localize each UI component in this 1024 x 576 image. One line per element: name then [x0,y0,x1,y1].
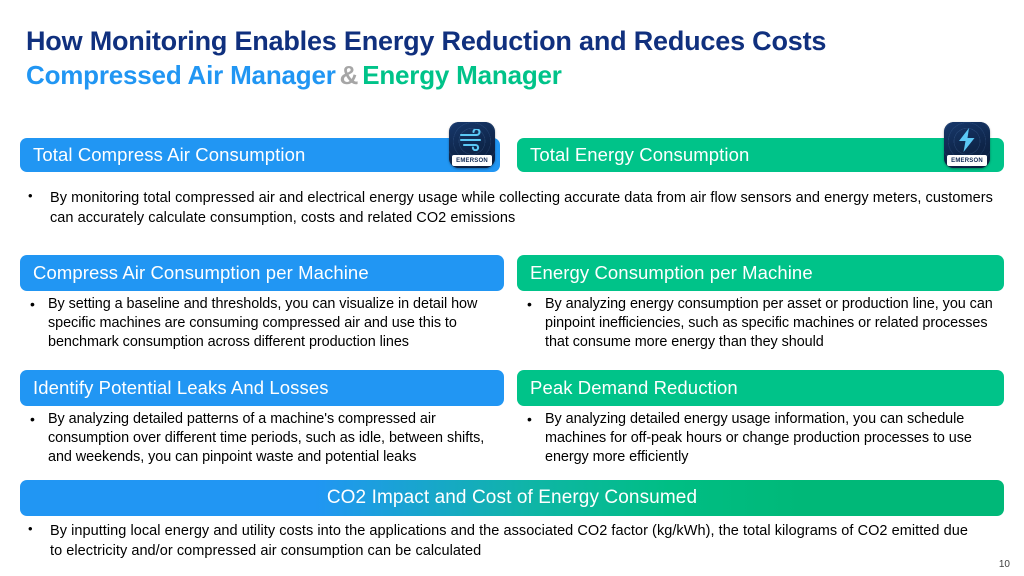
emerson-wordmark: EMERSON [452,155,492,166]
bullet-text: By analyzing detailed energy usage infor… [545,410,997,467]
header-identify-potential-leaks-and-losses[interactable]: Identify Potential Leaks And Losses [20,370,504,406]
bullets-identify-leaks: • By analyzing detailed patterns of a ma… [30,410,500,467]
header-energy-consumption-per-machine[interactable]: Energy Consumption per Machine [517,255,1004,291]
brand-label: EMERSON [456,158,488,164]
lightning-bolt-glyph [944,125,990,155]
bullets-energy-per-machine: • By analyzing energy consumption per as… [527,295,997,352]
subtitle-energy-manager: Energy Manager [362,60,562,90]
bullet-text: By monitoring total compressed air and e… [50,188,993,228]
subtitle-compressed-air-manager: Compressed Air Manager [26,60,336,90]
list-item: • By setting a baseline and thresholds, … [30,295,500,352]
header-label: Total Compress Air Consumption [20,144,305,166]
header-label: Energy Consumption per Machine [517,262,813,284]
header-label: Identify Potential Leaks And Losses [20,377,329,399]
list-item: • By monitoring total compressed air and… [28,188,993,228]
bullets-compress-air-per-machine: • By setting a baseline and thresholds, … [30,295,500,352]
page-subtitle: Compressed Air Manager&Energy Manager [26,60,986,90]
air-flow-glyph [449,125,495,155]
header-total-compress-air-consumption[interactable]: Total Compress Air Consumption [20,138,500,172]
list-item: • By analyzing energy consumption per as… [527,295,997,352]
header-peak-demand-reduction[interactable]: Peak Demand Reduction [517,370,1004,406]
header-compress-air-consumption-per-machine[interactable]: Compress Air Consumption per Machine [20,255,504,291]
header-co2-impact-and-cost[interactable]: CO2 Impact and Cost of Energy Consumed [20,480,1004,516]
brand-label: EMERSON [951,158,983,164]
bullet-glyph: • [30,410,48,429]
header-label: Total Energy Consumption [517,144,749,166]
bullet-text: By inputting local energy and utility co… [50,521,978,561]
bullet-glyph: • [28,188,50,203]
bullets-co2-impact: • By inputting local energy and utility … [28,521,978,561]
emerson-wordmark: EMERSON [947,155,987,166]
page-title: How Monitoring Enables Energy Reduction … [26,26,986,57]
slide-root: { "slide": { "title_line1": "How Monitor… [0,0,1024,576]
bullet-glyph: • [527,295,545,314]
bullet-glyph: • [30,295,48,314]
list-item: • By analyzing detailed energy usage inf… [527,410,997,467]
bullet-text: By setting a baseline and thresholds, yo… [48,295,500,352]
list-item: • By inputting local energy and utility … [28,521,978,561]
bullet-glyph: • [28,521,50,536]
list-item: • By analyzing detailed patterns of a ma… [30,410,500,467]
bullet-text: By analyzing detailed patterns of a mach… [48,410,500,467]
header-total-energy-consumption[interactable]: Total Energy Consumption [517,138,1004,172]
air-flow-icon: EMERSON [449,122,495,168]
header-label: Peak Demand Reduction [517,377,738,399]
header-label: Compress Air Consumption per Machine [20,262,369,284]
subtitle-separator: & [336,60,363,90]
bullets-total-consumption: • By monitoring total compressed air and… [28,188,993,228]
slide-number: 10 [999,559,1010,570]
header-label: CO2 Impact and Cost of Energy Consumed [327,487,697,509]
title-block: How Monitoring Enables Energy Reduction … [26,26,986,90]
bullet-text: By analyzing energy consumption per asse… [545,295,997,352]
bullet-glyph: • [527,410,545,429]
lightning-bolt-icon: EMERSON [944,122,990,168]
bullets-peak-demand: • By analyzing detailed energy usage inf… [527,410,997,467]
